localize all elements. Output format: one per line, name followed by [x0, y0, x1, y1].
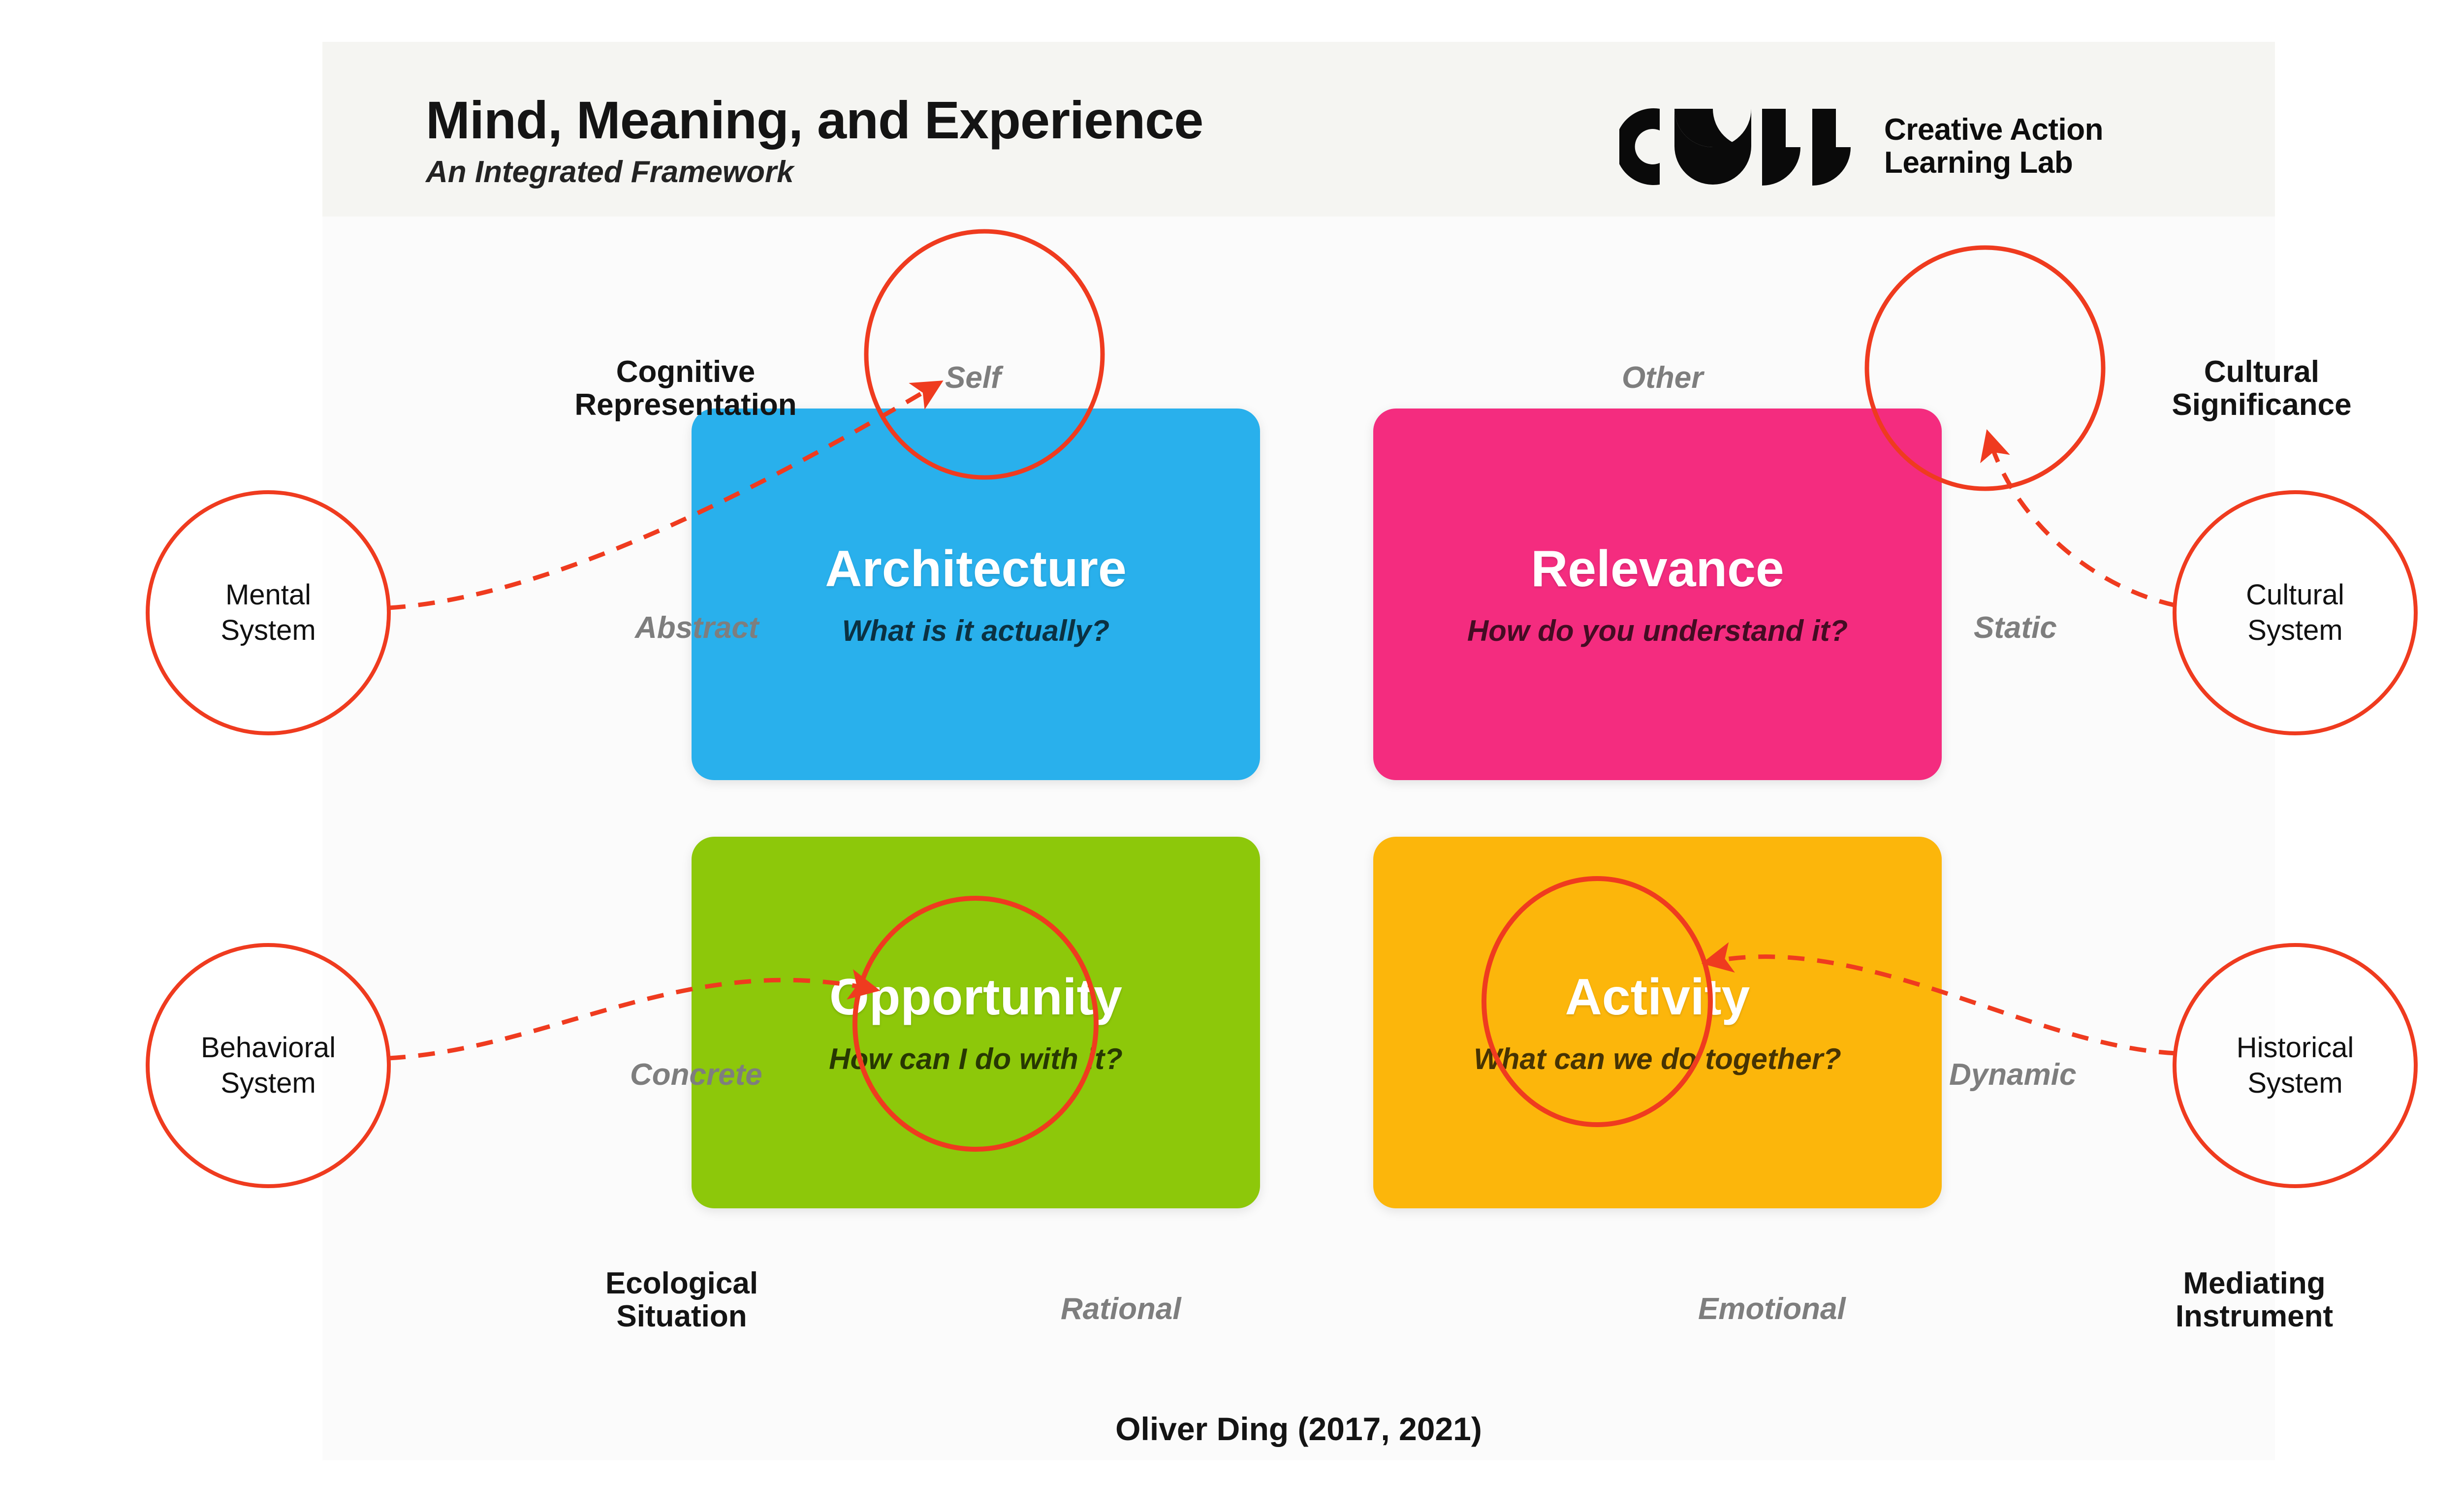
- quadrant-title: Opportunity: [829, 972, 1122, 1023]
- axis-label-concrete: Concrete: [630, 1060, 762, 1090]
- corner-label-line-1: Ecological: [544, 1267, 820, 1300]
- corner-label-cultural-significance: Cultural Significance: [2124, 356, 2399, 422]
- quadrant-title: Relevance: [1531, 543, 1784, 595]
- axis-label-rational: Rational: [1061, 1294, 1181, 1324]
- quadrant-title: Activity: [1565, 972, 1750, 1023]
- quadrant-opportunity[interactable]: Opportunity How can I do with it?: [692, 837, 1260, 1208]
- quadrant-question: What can we do together?: [1474, 1044, 1841, 1074]
- corner-label-line-1: Cognitive: [548, 356, 823, 389]
- quadrant-relevance[interactable]: Relevance How do you understand it?: [1373, 409, 1942, 780]
- corner-label-line-2: Representation: [548, 389, 823, 422]
- corner-label-line-2: Instrument: [2116, 1300, 2392, 1333]
- credit-line: Oliver Ding (2017, 2021): [322, 1410, 2275, 1448]
- corner-label-ecological-situation: Ecological Situation: [544, 1267, 820, 1333]
- axis-label-self: Self: [945, 363, 1001, 393]
- annotation-bubble-behavioral-system[interactable]: Behavioral System: [148, 945, 389, 1186]
- quadrant-question: How do you understand it?: [1467, 616, 1848, 646]
- annotation-bubble-line-1: Cultural: [2246, 577, 2344, 613]
- corner-label-line-2: Significance: [2124, 389, 2399, 422]
- annotation-bubble-historical-system[interactable]: Historical System: [2175, 945, 2416, 1186]
- corner-label-mediating-instrument: Mediating Instrument: [2116, 1267, 2392, 1333]
- slide: Mind, Meaning, and Experience An Integra…: [322, 42, 2275, 1460]
- page-title: Mind, Meaning, and Experience: [426, 94, 1203, 147]
- annotation-bubble-line-2: System: [221, 613, 316, 649]
- screenshot-canvas: Mind, Meaning, and Experience An Integra…: [0, 0, 2461, 1512]
- quadrant-question: What is it actually?: [842, 616, 1109, 646]
- quadrant-question: How can I do with it?: [829, 1044, 1123, 1074]
- annotation-bubble-line-2: System: [2246, 613, 2344, 649]
- axis-label-abstract: Abstract: [635, 613, 759, 643]
- axis-label-dynamic: Dynamic: [1949, 1060, 2076, 1090]
- call-logo-mark-icon: [1619, 105, 1865, 189]
- corner-label-line-1: Cultural: [2124, 356, 2399, 389]
- annotation-bubble-line-1: Mental: [221, 577, 316, 613]
- corner-label-line-1: Mediating: [2116, 1267, 2392, 1300]
- page-subtitle: An Integrated Framework: [426, 155, 1203, 189]
- annotation-bubble-line-1: Behavioral: [201, 1030, 336, 1066]
- axis-label-other: Other: [1622, 363, 1703, 393]
- corner-label-line-2: Situation: [544, 1300, 820, 1333]
- logo-wordmark: Creative Action Learning Lab: [1884, 114, 2103, 180]
- quadrant-title: Architecture: [825, 543, 1127, 595]
- call-logo: Creative Action Learning Lab: [1619, 105, 2103, 189]
- annotation-bubble-line-2: System: [201, 1066, 336, 1102]
- annotation-bubble-cultural-system[interactable]: Cultural System: [2175, 492, 2416, 733]
- quadrant-activity[interactable]: Activity What can we do together?: [1373, 837, 1942, 1208]
- annotation-bubble-line-2: System: [2237, 1066, 2354, 1102]
- title-block: Mind, Meaning, and Experience An Integra…: [426, 94, 1203, 189]
- axis-label-static: Static: [1974, 613, 2057, 643]
- logo-line-2: Learning Lab: [1884, 147, 2103, 180]
- axis-label-emotional: Emotional: [1698, 1294, 1846, 1324]
- corner-label-cognitive-representation: Cognitive Representation: [548, 356, 823, 422]
- annotation-bubble-line-1: Historical: [2237, 1030, 2354, 1066]
- quadrant-architecture[interactable]: Architecture What is it actually?: [692, 409, 1260, 780]
- logo-line-1: Creative Action: [1884, 114, 2103, 147]
- annotation-bubble-mental-system[interactable]: Mental System: [148, 492, 389, 733]
